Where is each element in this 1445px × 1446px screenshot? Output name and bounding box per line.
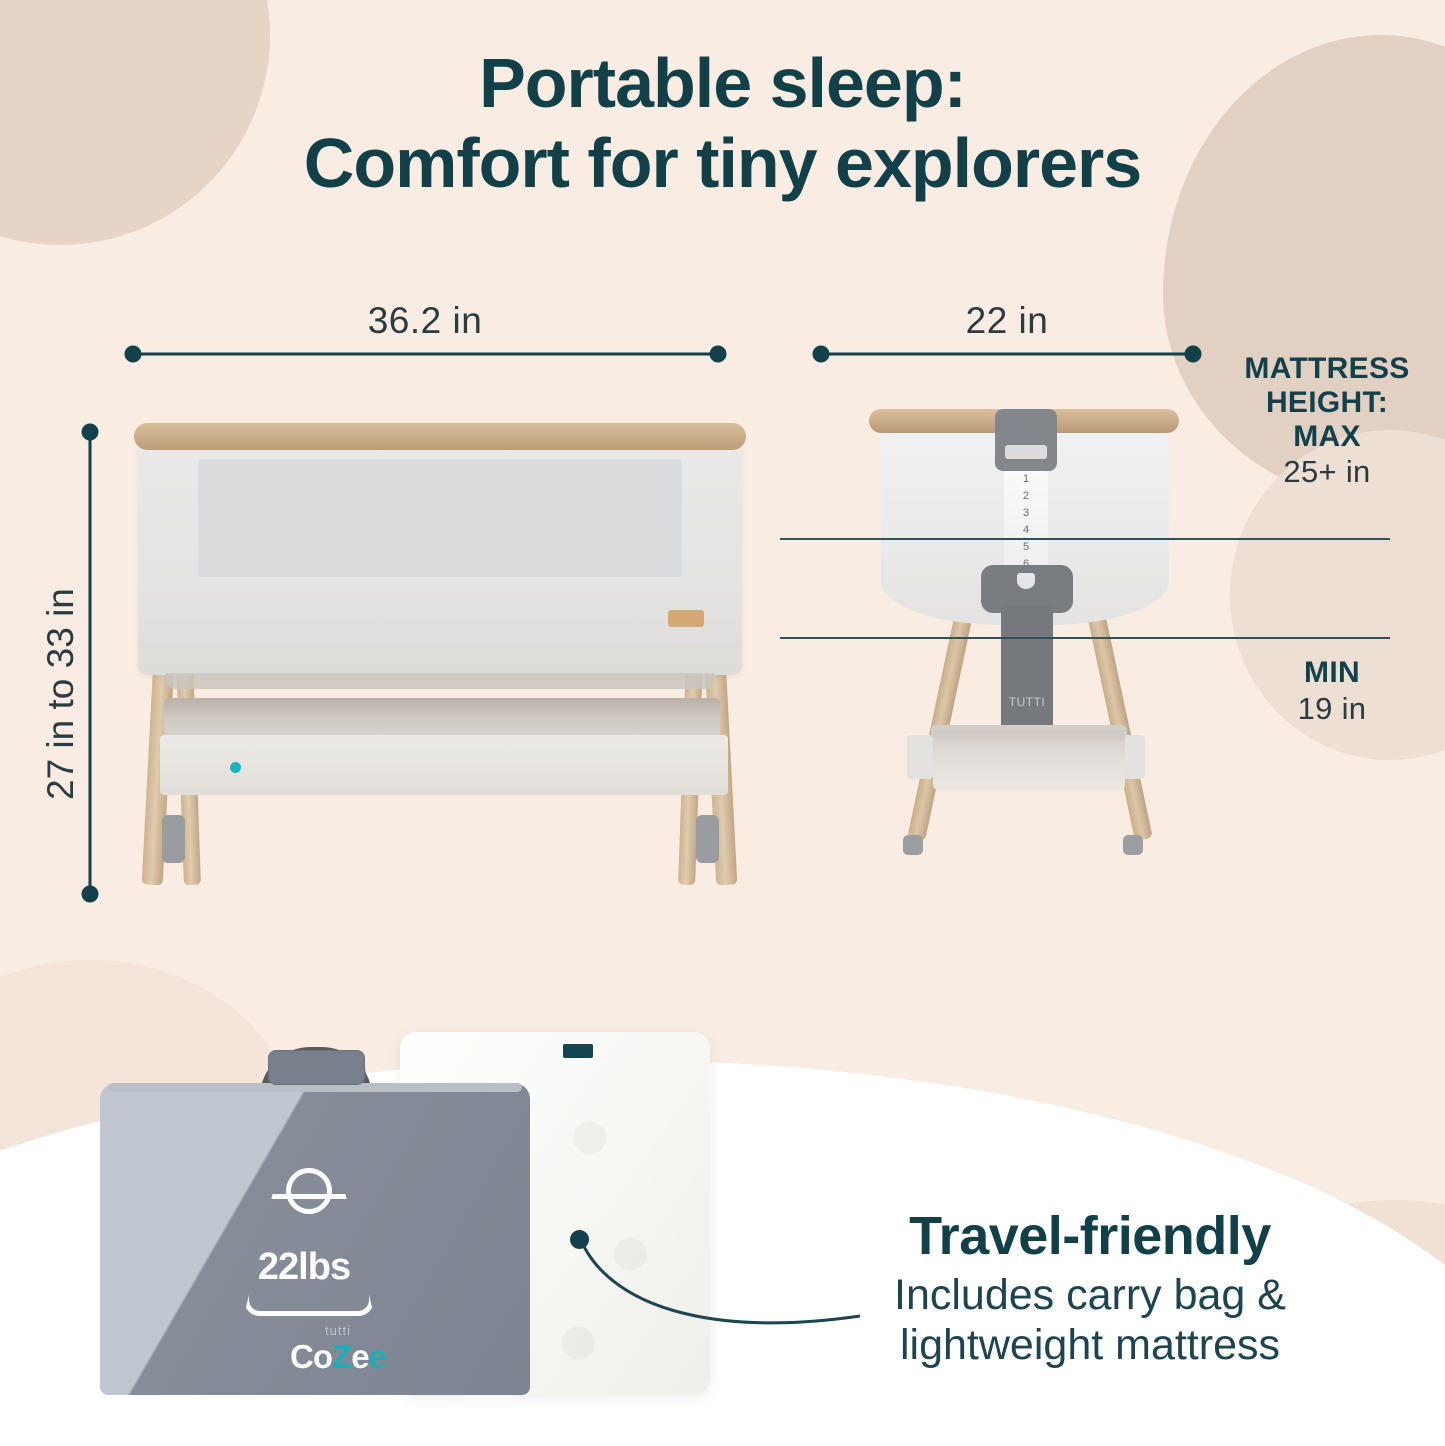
bassinet-mesh-panel bbox=[198, 459, 682, 577]
dimension-endpoint-right-icon bbox=[710, 346, 727, 363]
scale-mark-3: 3 bbox=[1004, 507, 1048, 519]
height-adjust-slot bbox=[1005, 445, 1047, 459]
dimension-bar bbox=[89, 432, 92, 894]
brand-leather-tag bbox=[668, 610, 704, 627]
scale-mark-4: 4 bbox=[1004, 524, 1048, 536]
bassinet-front-view-illustration bbox=[120, 415, 760, 885]
depth-dimension-line bbox=[821, 345, 1193, 363]
cozee-e2: e bbox=[369, 1338, 386, 1375]
dimension-endpoint-left-icon bbox=[813, 346, 830, 363]
page-title: Portable sleep: Comfort for tiny explore… bbox=[0, 44, 1445, 204]
bag-brand-logo: tutti CoZee bbox=[268, 1323, 408, 1376]
bag-brand-main-text: CoZee bbox=[268, 1338, 408, 1376]
mattress-height-max-label: MAX bbox=[1228, 420, 1426, 454]
width-dimension-label: 36.2 in bbox=[130, 300, 720, 342]
leader-line-endpoint-icon bbox=[570, 1230, 589, 1249]
side-panel-left bbox=[907, 735, 933, 779]
side-foot-right bbox=[1123, 835, 1143, 855]
min-height-reference-line bbox=[780, 637, 1390, 639]
mattress-height-title-line1: MATTRESS bbox=[1228, 352, 1426, 386]
side-storage-basket bbox=[933, 730, 1125, 790]
bassinet-underside bbox=[166, 673, 714, 689]
mattress-height-min-value: 19 in bbox=[1233, 691, 1431, 727]
mattress-height-max-block: MATTRESS HEIGHT: MAX 25+ in bbox=[1228, 352, 1426, 489]
weight-value: 22lbs bbox=[238, 1246, 370, 1289]
wooden-top-rail bbox=[134, 423, 746, 450]
dimension-endpoint-right-icon bbox=[1185, 346, 1202, 363]
scale-mark-2: 2 bbox=[1004, 490, 1048, 502]
front-foot-left bbox=[162, 815, 185, 863]
weight-badge: 22lbs bbox=[238, 1168, 370, 1308]
travel-friendly-subtitle-line1: Includes carry bag & bbox=[830, 1271, 1350, 1321]
side-leg-left bbox=[907, 593, 977, 841]
scale-mark-5: 5 bbox=[1004, 541, 1048, 553]
dimension-bar bbox=[821, 353, 1193, 356]
side-leg-right bbox=[1083, 593, 1153, 841]
bassinet-fabric-body bbox=[138, 443, 742, 675]
dimension-endpoint-bottom-icon bbox=[82, 886, 99, 903]
dimension-endpoint-left-icon bbox=[125, 346, 142, 363]
bassinet-side-view-illustration: 1 2 3 4 5 6 TUTTI bbox=[855, 405, 1195, 885]
travel-friendly-subtitle: Includes carry bag & lightweight mattres… bbox=[830, 1271, 1350, 1371]
height-position-scale: 1 2 3 4 5 6 bbox=[1004, 471, 1048, 576]
storage-basket-front bbox=[160, 735, 728, 795]
side-center-column bbox=[1001, 605, 1053, 735]
mattress-height-title-line2: HEIGHT: bbox=[1228, 386, 1426, 420]
height-dimension-line bbox=[81, 432, 99, 894]
travel-friendly-block: Travel-friendly Includes carry bag & lig… bbox=[830, 1208, 1350, 1370]
mattress-height-min-block: MIN 19 in bbox=[1233, 656, 1431, 726]
headline-line-2: Comfort for tiny explorers bbox=[0, 124, 1445, 204]
scale-mark-1: 1 bbox=[1004, 473, 1048, 485]
mattress-height-max-value: 25+ in bbox=[1228, 454, 1426, 489]
mattress-height-min-label: MIN bbox=[1233, 656, 1431, 691]
depth-dimension-label: 22 in bbox=[818, 300, 1196, 342]
max-height-reference-line bbox=[780, 538, 1390, 540]
cozee-z: Z bbox=[332, 1338, 351, 1375]
dimension-bar bbox=[133, 353, 718, 356]
mattress-brand-tag bbox=[563, 1044, 593, 1058]
travel-friendly-subtitle-line2: lightweight mattress bbox=[830, 1321, 1350, 1371]
front-foot-right bbox=[696, 815, 719, 863]
headline-line-1: Portable sleep: bbox=[479, 44, 966, 122]
cozee-co: Co bbox=[290, 1338, 332, 1375]
bag-brand-small-text: tutti bbox=[268, 1323, 408, 1338]
infographic-canvas: Portable sleep: Comfort for tiny explore… bbox=[0, 0, 1445, 1446]
width-dimension-line bbox=[133, 345, 718, 363]
cozee-e1: e bbox=[351, 1338, 368, 1375]
dimension-endpoint-top-icon bbox=[82, 424, 99, 441]
side-foot-left bbox=[903, 835, 923, 855]
height-dimension-label: 27 in to 33 in bbox=[40, 588, 82, 800]
teal-accent-dot bbox=[230, 762, 241, 773]
bracket-release-pip bbox=[1017, 573, 1035, 589]
bag-handle-pad bbox=[268, 1050, 365, 1085]
tutti-logo-text: TUTTI bbox=[1001, 695, 1053, 709]
height-adjust-clamp bbox=[995, 409, 1057, 471]
travel-friendly-title: Travel-friendly bbox=[830, 1208, 1350, 1265]
